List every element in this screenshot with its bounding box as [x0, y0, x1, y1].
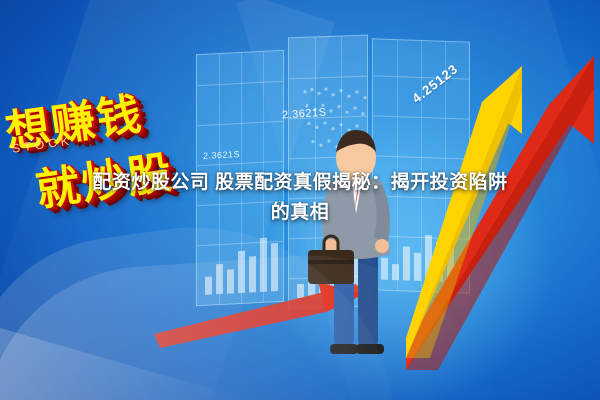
headline-line-1: 配资炒股公司 股票配资真假揭秘：揭开投资陷阱	[92, 172, 507, 193]
headline-line-2: 的真相	[0, 198, 600, 228]
headline-text: 配资炒股公司 股票配资真假揭秘：揭开投资陷阱 的真相	[0, 168, 600, 228]
promotional-banner-image: 2.3621S	[0, 0, 600, 400]
